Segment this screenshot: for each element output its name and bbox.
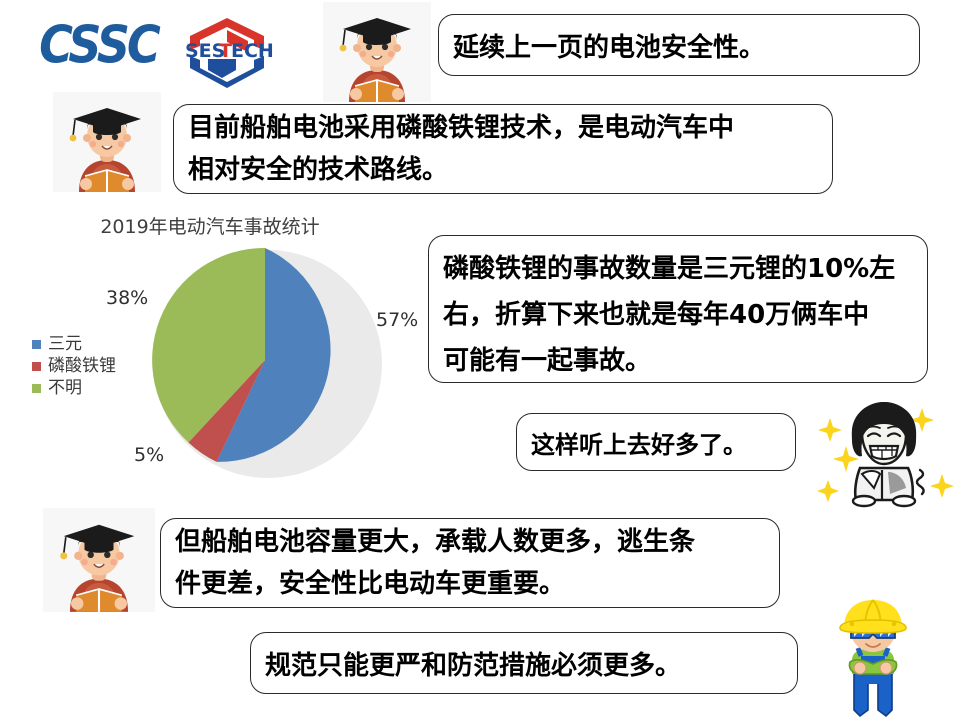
- construction-worker: [798, 598, 948, 720]
- cssc-logo-text: CSSC: [39, 20, 157, 72]
- graduate-student-top: [323, 2, 431, 102]
- legend-label-2: 不明: [48, 378, 82, 400]
- bubble-2-line-2: 相对安全的技术路线。: [188, 149, 818, 191]
- bubble-6-line-1: 规范只能更严和防范措施必须更多。: [265, 645, 783, 682]
- graduate-student-middle: [53, 92, 161, 192]
- chart-legend: 三元 磷酸铁锂 不明: [32, 334, 116, 399]
- speech-bubble-1: 延续上一页的电池安全性。: [438, 14, 920, 76]
- legend-item-0: 三元: [32, 334, 116, 356]
- bubble-5-line-1: 但船舶电池容量更大，承载人数更多，逃生条: [175, 521, 765, 563]
- slide-canvas: CSSC SES T ECH: [0, 0, 960, 720]
- cssc-logo: CSSC: [28, 20, 168, 72]
- pie-chart: 2019年电动汽车事故统计 57% 5% 38% 三元 磷: [10, 212, 430, 482]
- legend-item-2: 不明: [32, 378, 116, 400]
- bubble-5-line-2: 件更差，安全性比电动车更重要。: [175, 563, 765, 605]
- speech-bubble-4: 这样听上去好多了。: [516, 413, 796, 471]
- graduate-student-bottom: [43, 508, 155, 612]
- pie-graphic: [151, 246, 383, 478]
- crying-meme-sticker: [812, 396, 958, 508]
- legend-swatch-icon-1: [32, 362, 41, 371]
- bubble-3-line-2: 右，折算下来也就是每年40万俩车中: [443, 292, 913, 338]
- speech-bubble-6: 规范只能更严和防范措施必须更多。: [250, 632, 798, 694]
- pie-label-三元: 57%: [376, 309, 418, 331]
- bubble-4-line-1: 这样听上去好多了。: [531, 425, 781, 460]
- sestech-logo-mark: SES T ECH: [178, 12, 276, 90]
- speech-bubble-2: 目前船舶电池采用磷酸铁锂技术，是电动汽车中 相对安全的技术路线。: [173, 104, 833, 194]
- speech-bubble-3: 磷酸铁锂的事故数量是三元锂的10%左 右，折算下来也就是每年40万俩车中 可能有…: [428, 235, 928, 383]
- chart-title: 2019年电动汽车事故统计: [10, 212, 410, 239]
- sestech-word-ech: ECH: [231, 40, 274, 62]
- legend-swatch-icon-2: [32, 384, 41, 393]
- pie-label-不明: 38%: [106, 287, 148, 309]
- legend-item-1: 磷酸铁锂: [32, 356, 116, 378]
- bubble-2-line-1: 目前船舶电池采用磷酸铁锂技术，是电动汽车中: [188, 107, 818, 149]
- legend-label-0: 三元: [48, 334, 82, 356]
- bubble-3-line-3: 可能有一起事故。: [443, 338, 913, 384]
- legend-swatch-icon-0: [32, 340, 41, 349]
- legend-label-1: 磷酸铁锂: [48, 356, 116, 378]
- bubble-1-line-1: 延续上一页的电池安全性。: [453, 27, 905, 64]
- speech-bubble-5: 但船舶电池容量更大，承载人数更多，逃生条 件更差，安全性比电动车更重要。: [160, 518, 780, 608]
- sestech-logo: SES T ECH: [178, 12, 276, 90]
- pie-label-磷酸铁锂: 5%: [134, 444, 164, 466]
- bubble-3-line-1: 磷酸铁锂的事故数量是三元锂的10%左: [443, 246, 913, 292]
